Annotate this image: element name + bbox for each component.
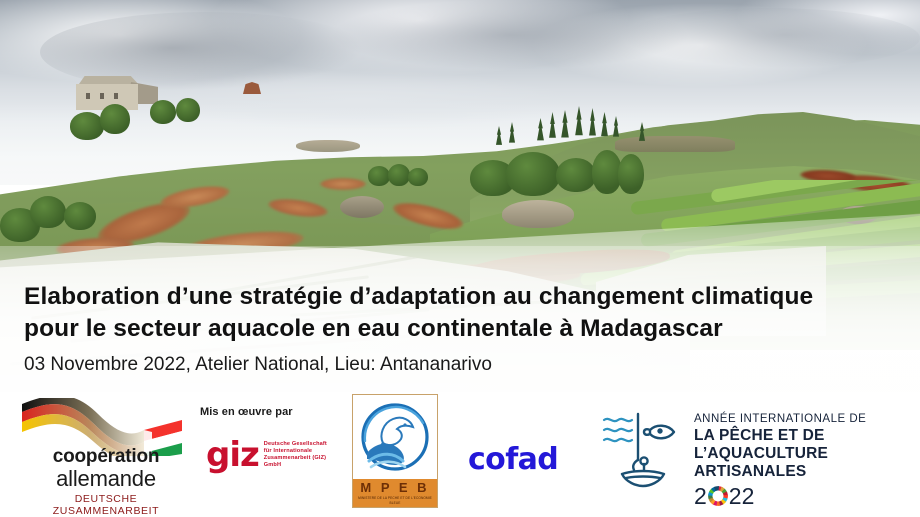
giz-sub-line-3: Zusammenarbeit (GIZ) GmbH xyxy=(264,455,340,469)
house-window xyxy=(86,93,90,99)
giz-sub-line-1: Deutsche Gesellschaft xyxy=(264,441,340,448)
event-subtitle: 03 Novembre 2022, Atelier National, Lieu… xyxy=(24,352,492,378)
fish-water-boat-icon xyxy=(600,408,686,492)
house-window xyxy=(114,93,118,99)
year-suffix: 22 xyxy=(729,484,755,508)
tree xyxy=(388,164,410,186)
implemented-by-label: Mis en œuvre par xyxy=(200,406,340,418)
giz-logo-block: Mis en œuvre par giz Deutsche Gesellscha… xyxy=(200,406,340,501)
german-cooperation-logo: coopération allemande DEUTSCHE ZUSAMMENA… xyxy=(10,396,190,511)
cloud xyxy=(150,70,570,130)
presentation-slide: Elaboration d’une stratégie d’adaptation… xyxy=(0,0,920,517)
tree xyxy=(30,196,66,228)
title-line-1: Elaboration d’une stratégie d’adaptation… xyxy=(24,281,894,313)
cofad-logo: cofad xyxy=(468,442,588,482)
giz-wordmark: giz xyxy=(206,438,259,472)
granite-boulder xyxy=(340,196,384,218)
iyafa-year: 2 xyxy=(694,484,900,508)
rock-outcrop xyxy=(615,136,735,152)
tree xyxy=(368,166,390,186)
mpeb-acronym: M P E B xyxy=(353,480,437,496)
mpeb-subtitle: MINISTERE DE LA PECHE ET DE L'ECONOMIE B… xyxy=(353,496,437,506)
tree xyxy=(408,168,428,186)
tree xyxy=(100,104,130,134)
iyafa-logo: ANNÉE INTERNATIONALE DE LA PÊCHE ET DE L… xyxy=(600,406,900,502)
coop-line-2: allemande xyxy=(20,467,192,491)
cloud xyxy=(620,8,920,68)
house-window xyxy=(100,93,104,99)
iyafa-line-2: LA PÊCHE ET DE L’AQUACULTURE xyxy=(694,427,900,463)
giz-sub-line-2: für Internationale xyxy=(264,448,340,455)
tree xyxy=(176,98,200,122)
iyafa-line-3: ARTISANALES xyxy=(694,463,900,481)
tree xyxy=(64,202,96,230)
mpeb-logo: M P E B MINISTERE DE LA PECHE ET DE L'EC… xyxy=(352,394,438,508)
fish-and-wave-icon xyxy=(353,397,437,477)
sdg-wheel-icon xyxy=(707,485,729,507)
cofad-wordmark: cofad xyxy=(468,442,588,477)
rock-outcrop xyxy=(296,140,360,152)
page-title: Elaboration d’une stratégie d’adaptation… xyxy=(24,281,894,345)
title-line-2: pour le secteur aquacole en eau continen… xyxy=(24,313,894,345)
erosion-patch xyxy=(320,178,366,190)
coop-line-1: coopération xyxy=(20,446,192,467)
tree xyxy=(70,112,104,140)
year-prefix: 2 xyxy=(694,484,707,508)
mpeb-name-band: M P E B MINISTERE DE LA PECHE ET DE L'EC… xyxy=(353,479,437,507)
iyafa-line-1: ANNÉE INTERNATIONALE DE xyxy=(694,412,900,427)
coop-line-3: DEUTSCHE ZUSAMMENARBEIT xyxy=(20,493,192,517)
tree xyxy=(150,100,176,124)
logo-bar: coopération allemande DEUTSCHE ZUSAMMENA… xyxy=(0,392,920,517)
